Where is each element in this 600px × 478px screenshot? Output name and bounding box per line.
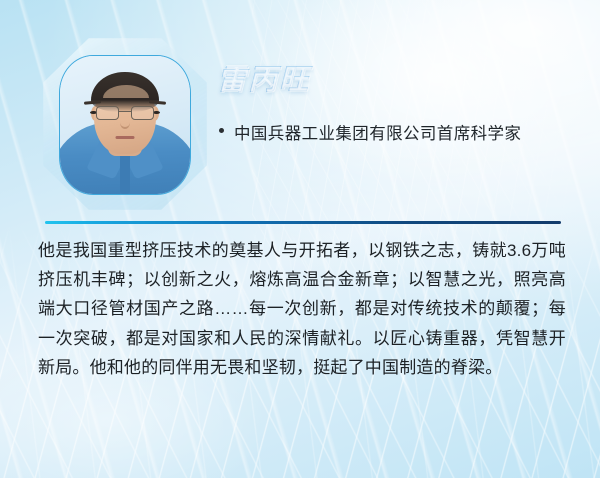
photo-glasses-bridge — [119, 111, 131, 112]
profile-header: 雷丙旺 中国兵器工业集团有限公司首席科学家 — [0, 0, 600, 216]
bullet-dot-icon — [219, 128, 224, 133]
biography-paragraph: 他是我国重型挤压技术的奠基人与开拓者，以钢铁之志，铸就3.6万吨挤压机丰碑；以创… — [38, 236, 566, 382]
name-block: 雷丙旺 中国兵器工业集团有限公司首席科学家 — [217, 66, 577, 150]
photo-mouth — [116, 136, 135, 139]
section-divider — [45, 221, 561, 224]
person-name: 雷丙旺 — [217, 66, 577, 95]
biography-text: 他是我国重型挤压技术的奠基人与开拓者，以钢铁之志，铸就3.6万吨挤压机丰碑；以创… — [38, 236, 566, 382]
photo-lens-right — [131, 106, 154, 120]
person-title-row: 中国兵器工业集团有限公司首席科学家 — [217, 119, 577, 150]
photo-nose — [120, 116, 130, 129]
avatar — [60, 56, 190, 194]
photo-lens-left — [96, 106, 119, 120]
portrait-frame — [59, 55, 191, 195]
profile-card: 雷丙旺 中国兵器工业集团有限公司首席科学家 他是我国重型挤压技术的奠基人与开拓者… — [0, 0, 600, 478]
portrait-container — [43, 38, 207, 210]
person-title: 中国兵器工业集团有限公司首席科学家 — [234, 119, 521, 150]
